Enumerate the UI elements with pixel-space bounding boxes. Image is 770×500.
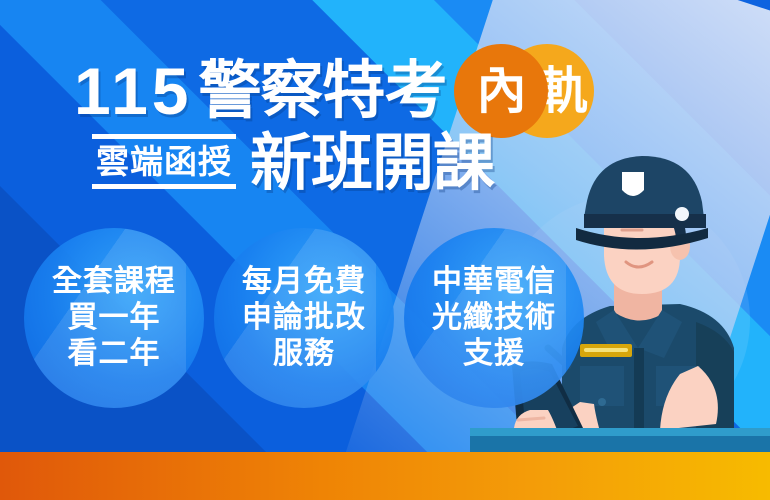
delivery-mode-box: 雲端函授 (92, 134, 236, 189)
headline-secondary: 雲端函授 新班開課 (92, 133, 494, 195)
exam-name-text: 警察特考 (198, 60, 446, 123)
delivery-mode-label: 雲端函授 (96, 145, 232, 180)
feature-line-1: 每月免費 (242, 264, 366, 300)
exam-year-number: 115 (74, 58, 192, 124)
officer-cap-shield-icon (622, 172, 644, 196)
promo-banner: 115 警察特考 內 軌 雲端函授 新班開課 全套課程 買一年 看二年 每月免費… (0, 0, 770, 500)
officer-pocket-button-left (598, 398, 606, 406)
announcement-text: 新班開課 (250, 133, 494, 195)
inner-track-badge-group: 內 軌 (454, 44, 594, 138)
feature-badge-group: 全套課程 買一年 看二年 每月免費 申論批改 服務 中華電信 光纖技術 支援 (24, 228, 584, 408)
feature-line-1: 全套課程 (52, 264, 176, 300)
feature-line-2: 光纖技術 (432, 300, 556, 336)
feature-badge-full-course[interactable]: 全套課程 買一年 看二年 (24, 228, 204, 408)
feature-line-1: 中華電信 (432, 264, 556, 300)
feature-line-3: 看二年 (68, 336, 161, 372)
feature-badge-essay-review[interactable]: 每月免費 申論批改 服務 (214, 228, 394, 408)
officer-finger-line (518, 418, 544, 420)
bottom-accent-bar (0, 452, 770, 500)
badge-orb-inner: 內 (454, 44, 548, 138)
feature-badge-fiber-support[interactable]: 中華電信 光纖技術 支援 (404, 228, 584, 408)
feature-line-2: 買一年 (68, 300, 161, 336)
headline-primary: 115 警察特考 內 軌 (74, 44, 594, 138)
feature-line-2: 申論批改 (242, 300, 366, 336)
desk-surface-top (470, 428, 770, 436)
feature-line-3: 服務 (273, 336, 335, 372)
officer-cap-button (675, 207, 689, 221)
desk-surface (470, 436, 770, 452)
feature-line-3: 支援 (463, 336, 525, 372)
officer-rank-bar-stripe (584, 348, 628, 352)
